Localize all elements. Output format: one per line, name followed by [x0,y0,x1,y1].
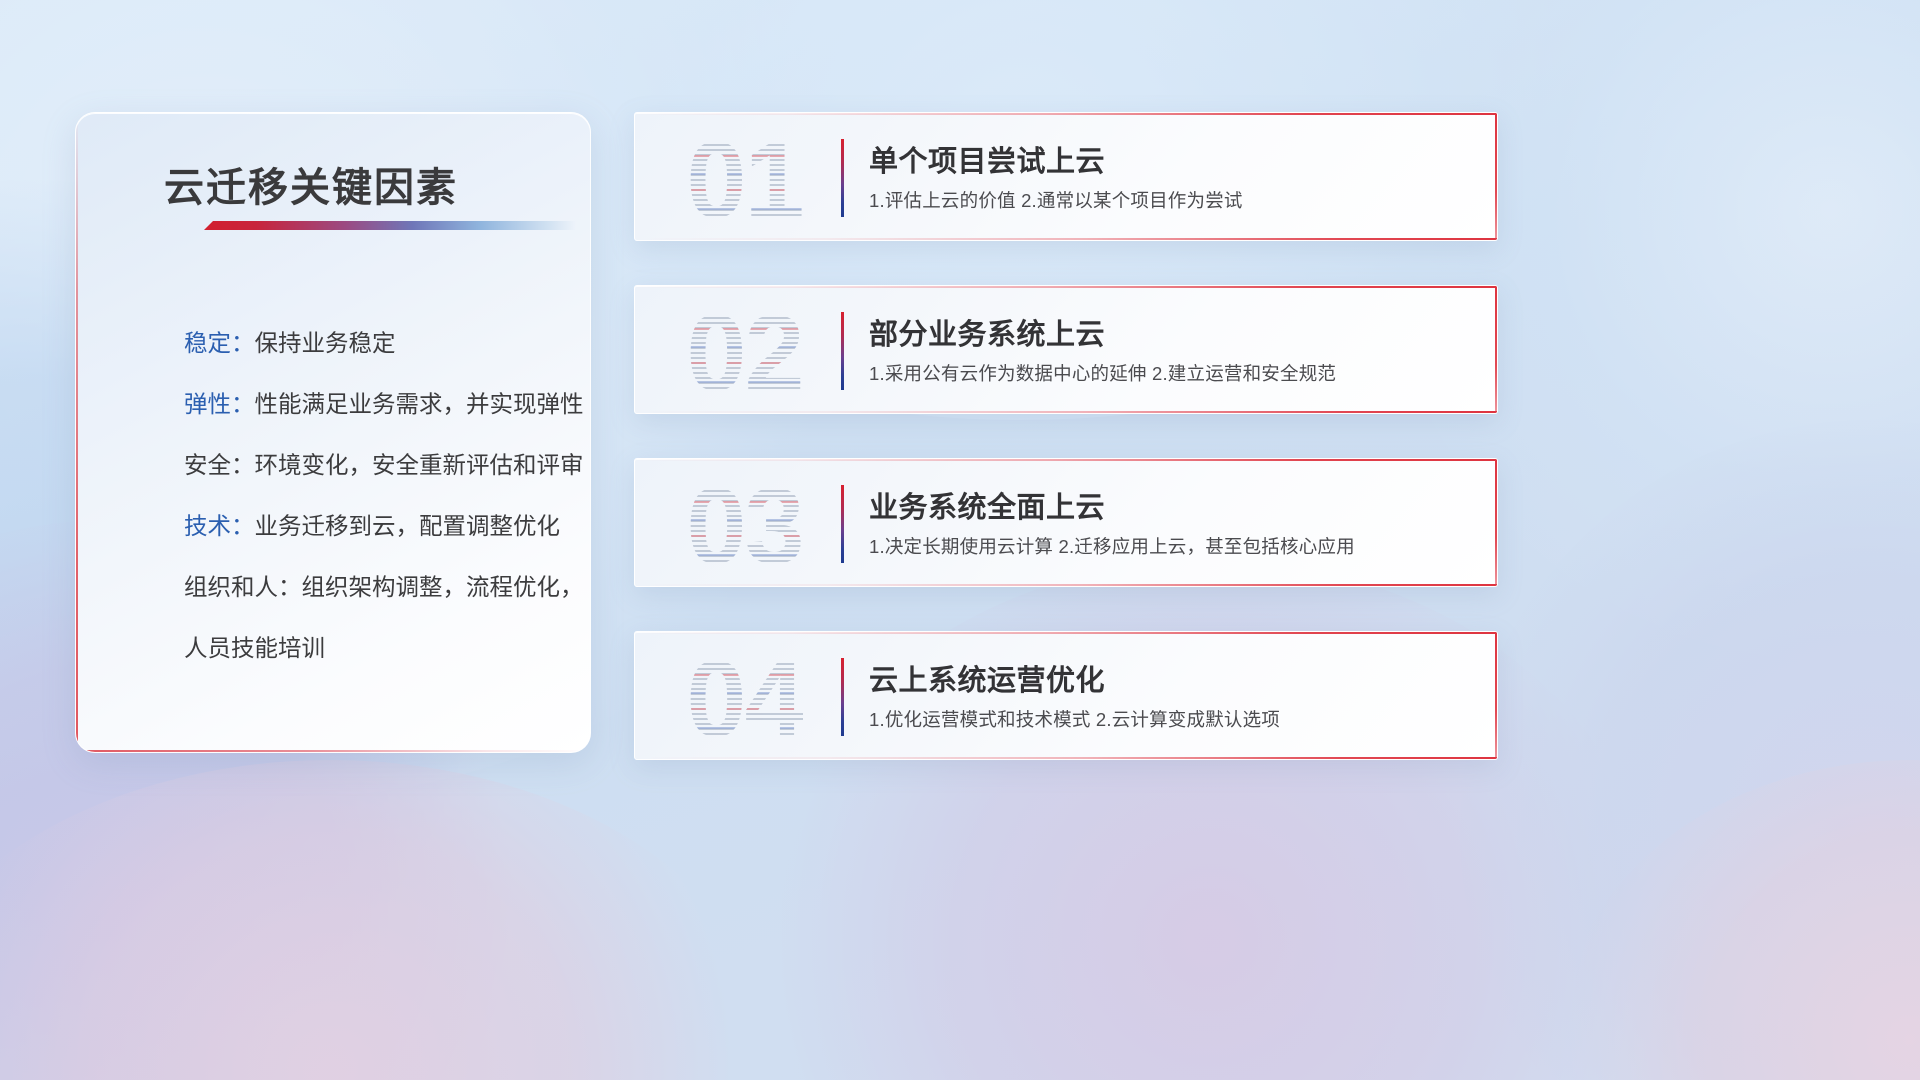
key-factor-value: 性能满足业务需求，并实现弹性 [255,391,584,417]
key-factor-row: 技术：业务迁移到云，配置调整优化 [184,496,584,557]
key-factor-label: 安全： [184,452,255,478]
panel-title: 云迁移关键因素 [164,155,458,213]
stage-card[interactable]: 0404云上系统运营优化1.优化运营模式和技术模式 2.云计算变成默认选项 [634,631,1498,760]
key-factor-row: 弹性：性能满足业务需求，并实现弹性 [184,374,584,435]
stage-number: 0303 [657,467,832,585]
card-title: 部分业务系统上云 [869,311,1105,353]
stage-number: 0101 [657,121,832,239]
card-title: 单个项目尝试上云 [869,138,1105,180]
card-divider-bar [841,485,844,563]
card-description: 1.采用公有云作为数据中心的延伸 2.建立运营和安全规范 [869,360,1336,386]
stage-number: 0404 [657,640,832,758]
key-factors-list: 稳定：保持业务稳定弹性：性能满足业务需求，并实现弹性安全：环境变化，安全重新评估… [184,313,584,679]
key-factor-row: 安全：环境变化，安全重新评估和评审 [184,435,584,496]
key-factor-value: 业务迁移到云，配置调整优化 [255,513,561,539]
key-factor-label: 弹性： [184,391,255,417]
card-divider-bar [841,658,844,736]
card-title: 云上系统运营优化 [869,657,1105,699]
key-factor-value: 保持业务稳定 [255,330,396,356]
key-factors-panel: 云迁移关键因素 稳定：保持业务稳定弹性：性能满足业务需求，并实现弹性安全：环境变… [75,112,591,753]
card-divider-bar [841,312,844,390]
key-factor-row: 稳定：保持业务稳定 [184,313,584,374]
key-factor-label: 组织和人： [184,574,302,600]
key-factor-value: 人员技能培训 [184,635,325,661]
card-divider-bar [841,139,844,217]
stage-number-text: 03 [686,465,802,586]
title-underline-bar [204,221,576,230]
stage-number-text: 04 [686,638,802,759]
stage-number-text: 02 [686,292,802,413]
slide-stage: 云迁移关键因素 稳定：保持业务稳定弹性：性能满足业务需求，并实现弹性安全：环境变… [0,0,1920,1080]
stage-card[interactable]: 0202部分业务系统上云1.采用公有云作为数据中心的延伸 2.建立运营和安全规范 [634,285,1498,414]
key-factor-value: 组织架构调整，流程优化， [302,574,584,600]
card-title: 业务系统全面上云 [869,484,1105,526]
key-factor-label: 技术： [184,513,255,539]
key-factor-row: 组织和人：组织架构调整，流程优化， [184,557,584,618]
stage-cards-list: 0101单个项目尝试上云1.评估上云的价值 2.通常以某个项目作为尝试0202部… [634,112,1498,804]
card-description: 1.评估上云的价值 2.通常以某个项目作为尝试 [869,187,1243,213]
card-description: 1.优化运营模式和技术模式 2.云计算变成默认选项 [869,706,1280,732]
stage-card[interactable]: 0101单个项目尝试上云1.评估上云的价值 2.通常以某个项目作为尝试 [634,112,1498,241]
key-factor-row: 人员技能培训 [184,618,584,679]
stage-number: 0202 [657,294,832,412]
stage-card[interactable]: 0303业务系统全面上云1.决定长期使用云计算 2.迁移应用上云，甚至包括核心应… [634,458,1498,587]
stage-number-text: 01 [686,119,802,240]
key-factor-value: 环境变化，安全重新评估和评审 [255,452,584,478]
card-description: 1.决定长期使用云计算 2.迁移应用上云，甚至包括核心应用 [869,533,1355,559]
key-factor-label: 稳定： [184,330,255,356]
